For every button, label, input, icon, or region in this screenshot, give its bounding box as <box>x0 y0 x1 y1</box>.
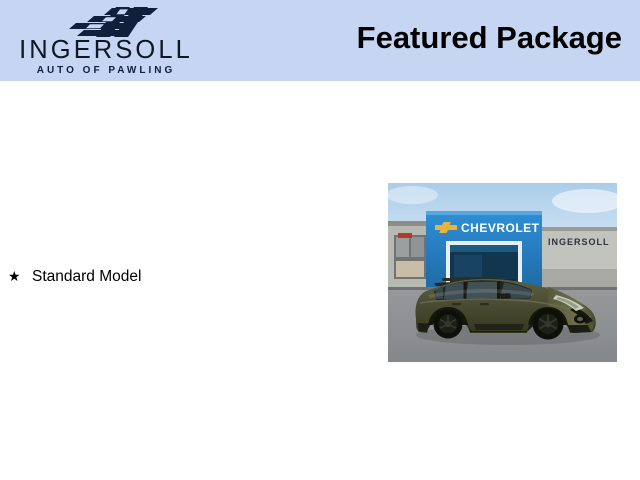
ingersoll-winged-emblem-icon <box>54 6 166 38</box>
feature-label: Standard Model <box>32 267 348 287</box>
list-item: ★ Standard Model <box>8 266 348 287</box>
svg-text:CHEVROLET: CHEVROLET <box>461 221 540 235</box>
dealership-logo[interactable]: INGERSOLL AUTO OF PAWLING <box>6 4 206 78</box>
dealership-tagline: AUTO OF PAWLING <box>6 66 206 76</box>
featured-package-page: INGERSOLL AUTO OF PAWLING Featured Packa… <box>0 0 640 480</box>
page-header: INGERSOLL AUTO OF PAWLING Featured Packa… <box>0 0 640 81</box>
star-bullet-icon: ★ <box>8 266 32 286</box>
feature-list: ★ Standard Model <box>8 266 348 291</box>
svg-text:INGERSOLL: INGERSOLL <box>548 237 610 247</box>
dealership-wordmark: INGERSOLL <box>6 38 206 64</box>
page-title: Featured Package <box>357 18 622 58</box>
vehicle-photo: INGERSOLL CHEVROLET <box>388 183 617 362</box>
